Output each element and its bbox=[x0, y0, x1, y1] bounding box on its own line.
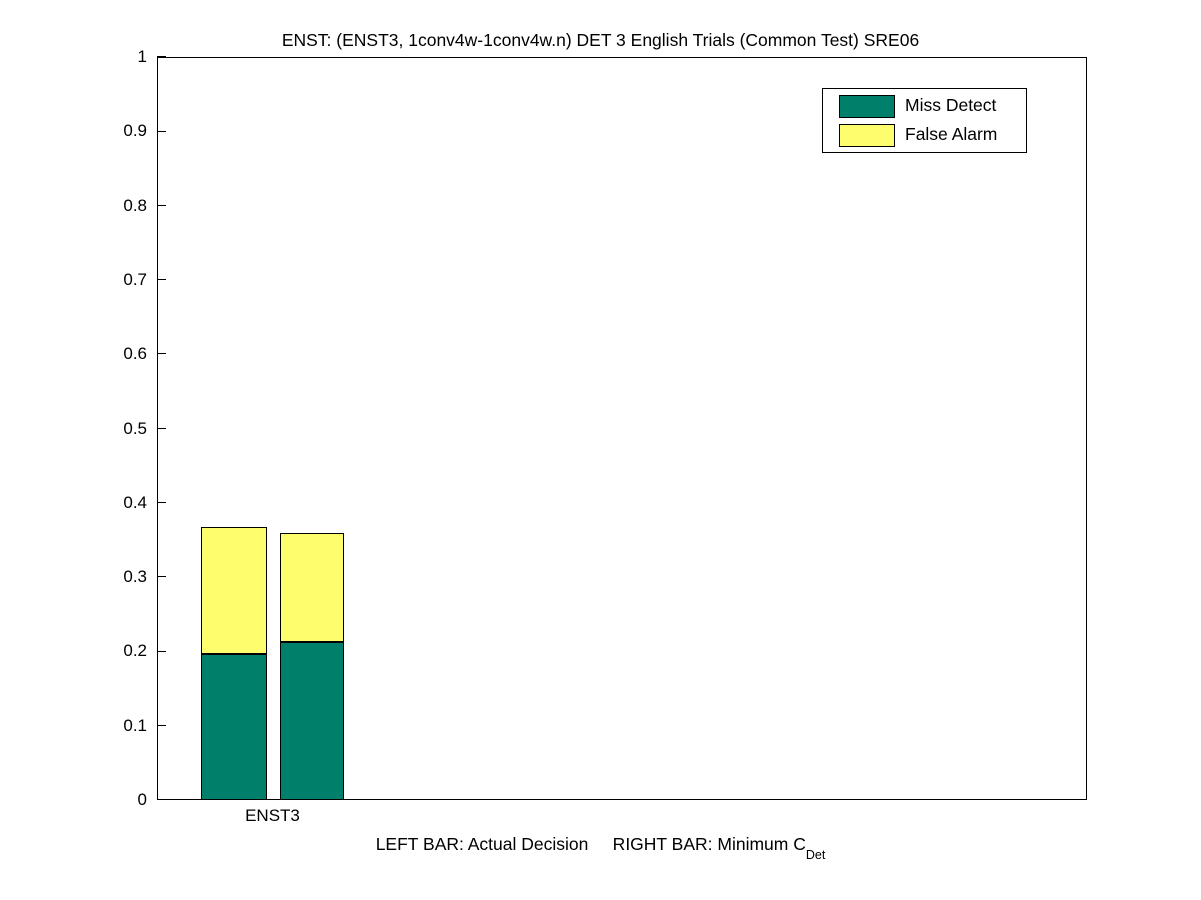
legend-entry-miss-detect[interactable]: Miss Detect bbox=[823, 93, 1026, 119]
y-axis-tick-mark bbox=[157, 428, 166, 429]
bar-group-minimum-cdet[interactable] bbox=[280, 57, 344, 800]
bar-segment-false-alarm[interactable] bbox=[280, 533, 344, 643]
legend-label-miss-detect: Miss Detect bbox=[905, 97, 996, 115]
y-axis-tick-mark bbox=[157, 279, 166, 280]
y-axis-tick-label: 1 bbox=[101, 48, 147, 65]
y-axis-tick-label: 0 bbox=[101, 791, 147, 808]
x-axis-caption-main: LEFT BAR: Actual Decision RIGHT BAR: Min… bbox=[376, 834, 806, 854]
bar-segment-miss-detect[interactable] bbox=[280, 642, 344, 800]
figure-canvas: ENST: (ENST3, 1conv4w-1conv4w.n) DET 3 E… bbox=[0, 0, 1201, 900]
y-axis-tick-mark bbox=[157, 576, 166, 577]
y-axis-tick-mark bbox=[157, 502, 166, 503]
y-axis-tick-label: 0.8 bbox=[101, 197, 147, 214]
y-axis-tick-label: 0.4 bbox=[101, 494, 147, 511]
y-axis-tick-labels: 00.10.20.30.40.50.60.70.80.91 bbox=[101, 0, 147, 900]
x-axis-caption-subscript: Det bbox=[806, 848, 825, 862]
x-axis-tick-label-enst3: ENST3 bbox=[173, 806, 373, 826]
legend-swatch-miss-detect bbox=[839, 95, 895, 118]
y-axis-tick-mark bbox=[157, 205, 166, 206]
legend-swatch-false-alarm bbox=[839, 124, 895, 147]
x-axis-caption: LEFT BAR: Actual Decision RIGHT BAR: Min… bbox=[0, 834, 1201, 858]
bar-segment-false-alarm[interactable] bbox=[201, 527, 267, 654]
y-axis-tick-mark bbox=[157, 56, 166, 57]
y-axis-tick-mark bbox=[157, 651, 166, 652]
y-axis-tick-mark bbox=[157, 131, 166, 132]
y-axis-tick-label: 0.5 bbox=[101, 420, 147, 437]
y-axis-tick-label: 0.2 bbox=[101, 642, 147, 659]
y-axis-tick-label: 0.7 bbox=[101, 271, 147, 288]
legend-label-false-alarm: False Alarm bbox=[905, 126, 997, 144]
chart-title: ENST: (ENST3, 1conv4w-1conv4w.n) DET 3 E… bbox=[0, 30, 1201, 51]
y-axis-tick-mark bbox=[157, 725, 166, 726]
y-axis-tick-mark bbox=[157, 353, 166, 354]
y-axis-tick-label: 0.3 bbox=[101, 568, 147, 585]
y-axis-tick-mark bbox=[157, 799, 166, 800]
legend-box[interactable]: Miss Detect False Alarm bbox=[822, 88, 1027, 153]
y-axis-tick-label: 0.1 bbox=[101, 717, 147, 734]
bar-segment-miss-detect[interactable] bbox=[201, 654, 267, 800]
y-axis-tick-label: 0.6 bbox=[101, 345, 147, 362]
y-axis-tick-label: 0.9 bbox=[101, 122, 147, 139]
legend-entry-false-alarm[interactable]: False Alarm bbox=[823, 122, 1026, 148]
bar-group-actual-decision[interactable] bbox=[201, 57, 267, 800]
